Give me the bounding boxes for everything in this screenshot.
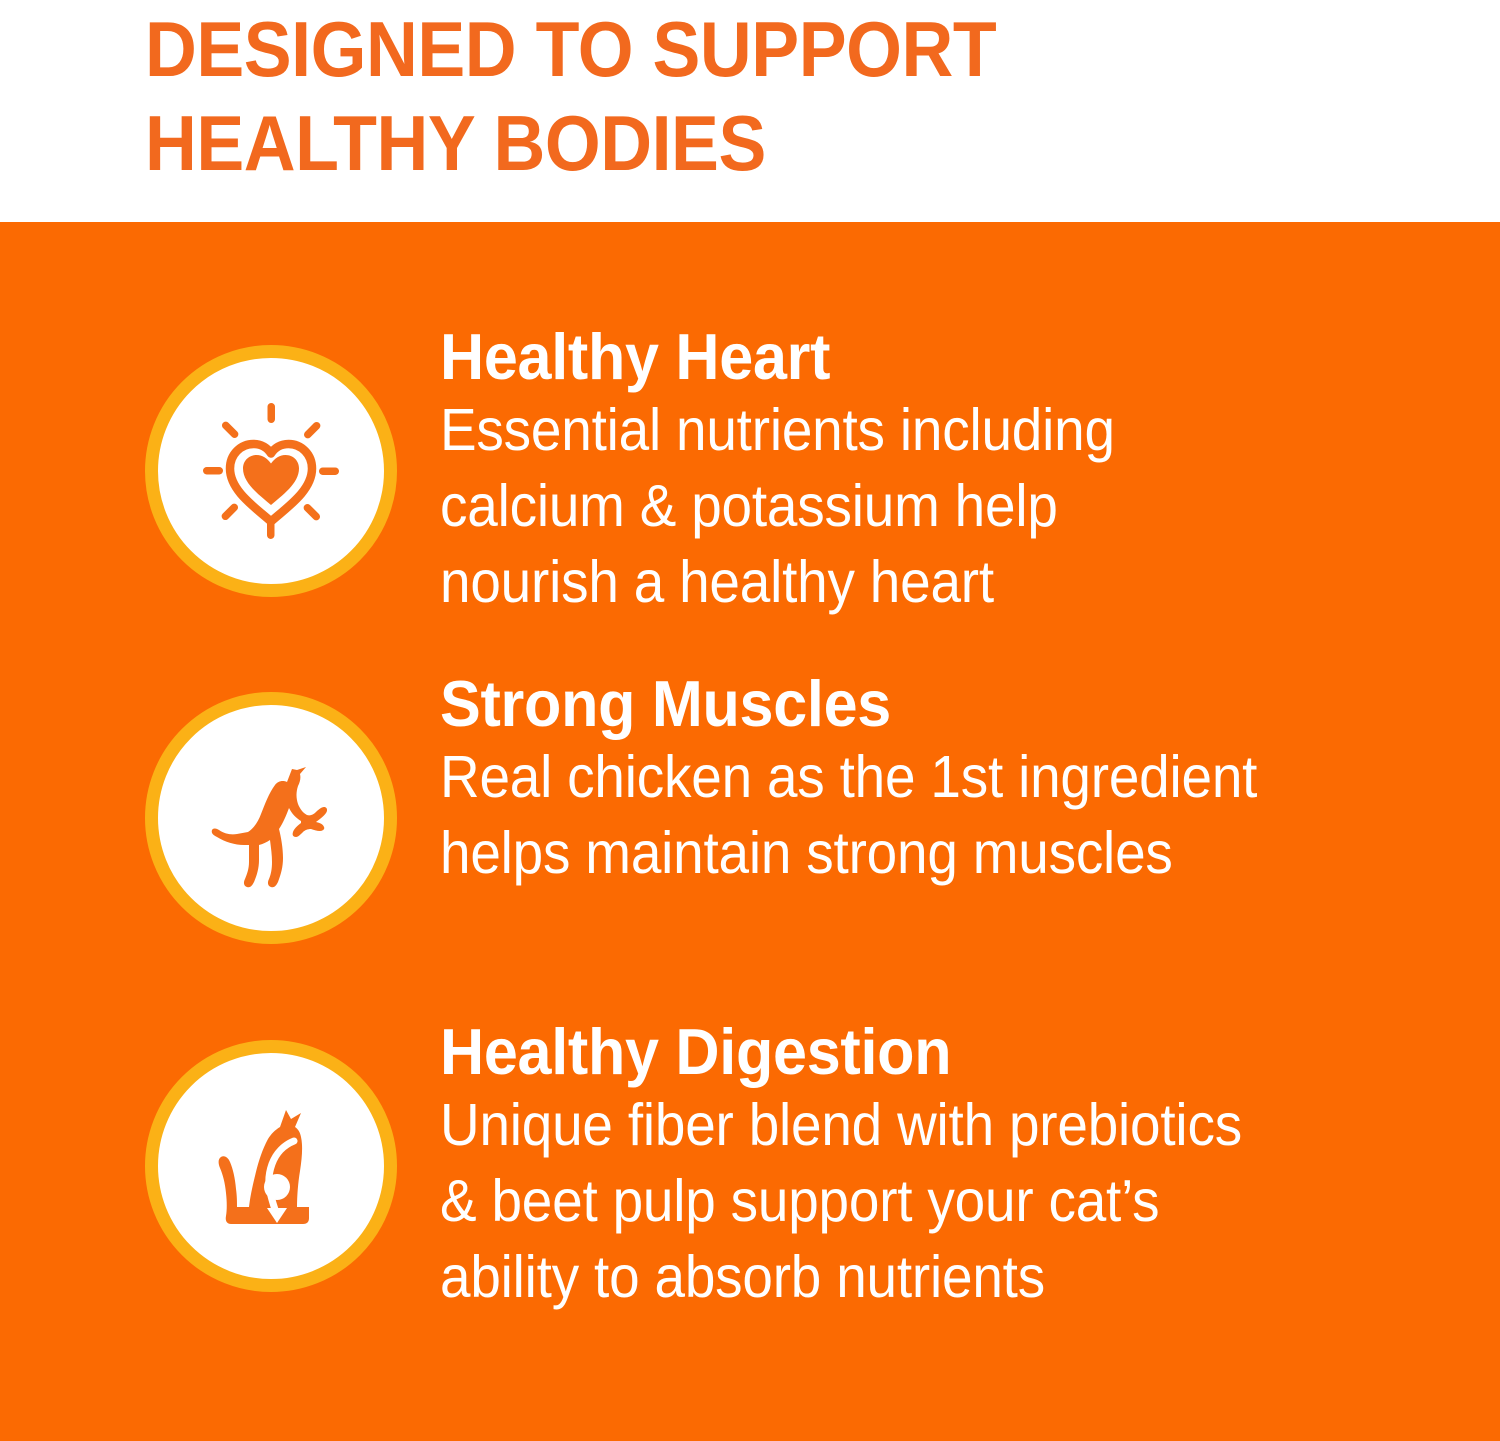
- benefits-panel: Healthy Heart Essential nutrients includ…: [0, 222, 1500, 1441]
- jumping-cat-icon: [145, 692, 397, 944]
- infographic-page: DESIGNED TO SUPPORT HEALTHY BODIES: [0, 0, 1500, 1441]
- benefit-text-block: Healthy Digestion Unique fiber blend wit…: [440, 1017, 1460, 1315]
- sitting-cat-digestion-icon: [145, 1040, 397, 1292]
- benefit-body: Real chicken as the 1st ingredient helps…: [440, 739, 1389, 891]
- header-band: DESIGNED TO SUPPORT HEALTHY BODIES: [0, 0, 1500, 222]
- benefit-icon-badge: [145, 692, 397, 944]
- benefit-body: Essential nutrients including calcium & …: [440, 392, 1389, 620]
- benefit-icon-badge: [145, 345, 397, 597]
- benefit-text-block: Strong Muscles Real chicken as the 1st i…: [440, 669, 1460, 891]
- radiant-heart-icon: [145, 345, 397, 597]
- benefit-body: Unique fiber blend with prebiotics & bee…: [440, 1087, 1389, 1315]
- page-title: DESIGNED TO SUPPORT HEALTHY BODIES: [145, 0, 1392, 190]
- benefit-heading: Healthy Heart: [440, 322, 1399, 392]
- benefit-icon-badge: [145, 1040, 397, 1292]
- benefit-text-block: Healthy Heart Essential nutrients includ…: [440, 322, 1460, 620]
- benefit-heading: Healthy Digestion: [440, 1017, 1399, 1087]
- benefit-heading: Strong Muscles: [440, 669, 1399, 739]
